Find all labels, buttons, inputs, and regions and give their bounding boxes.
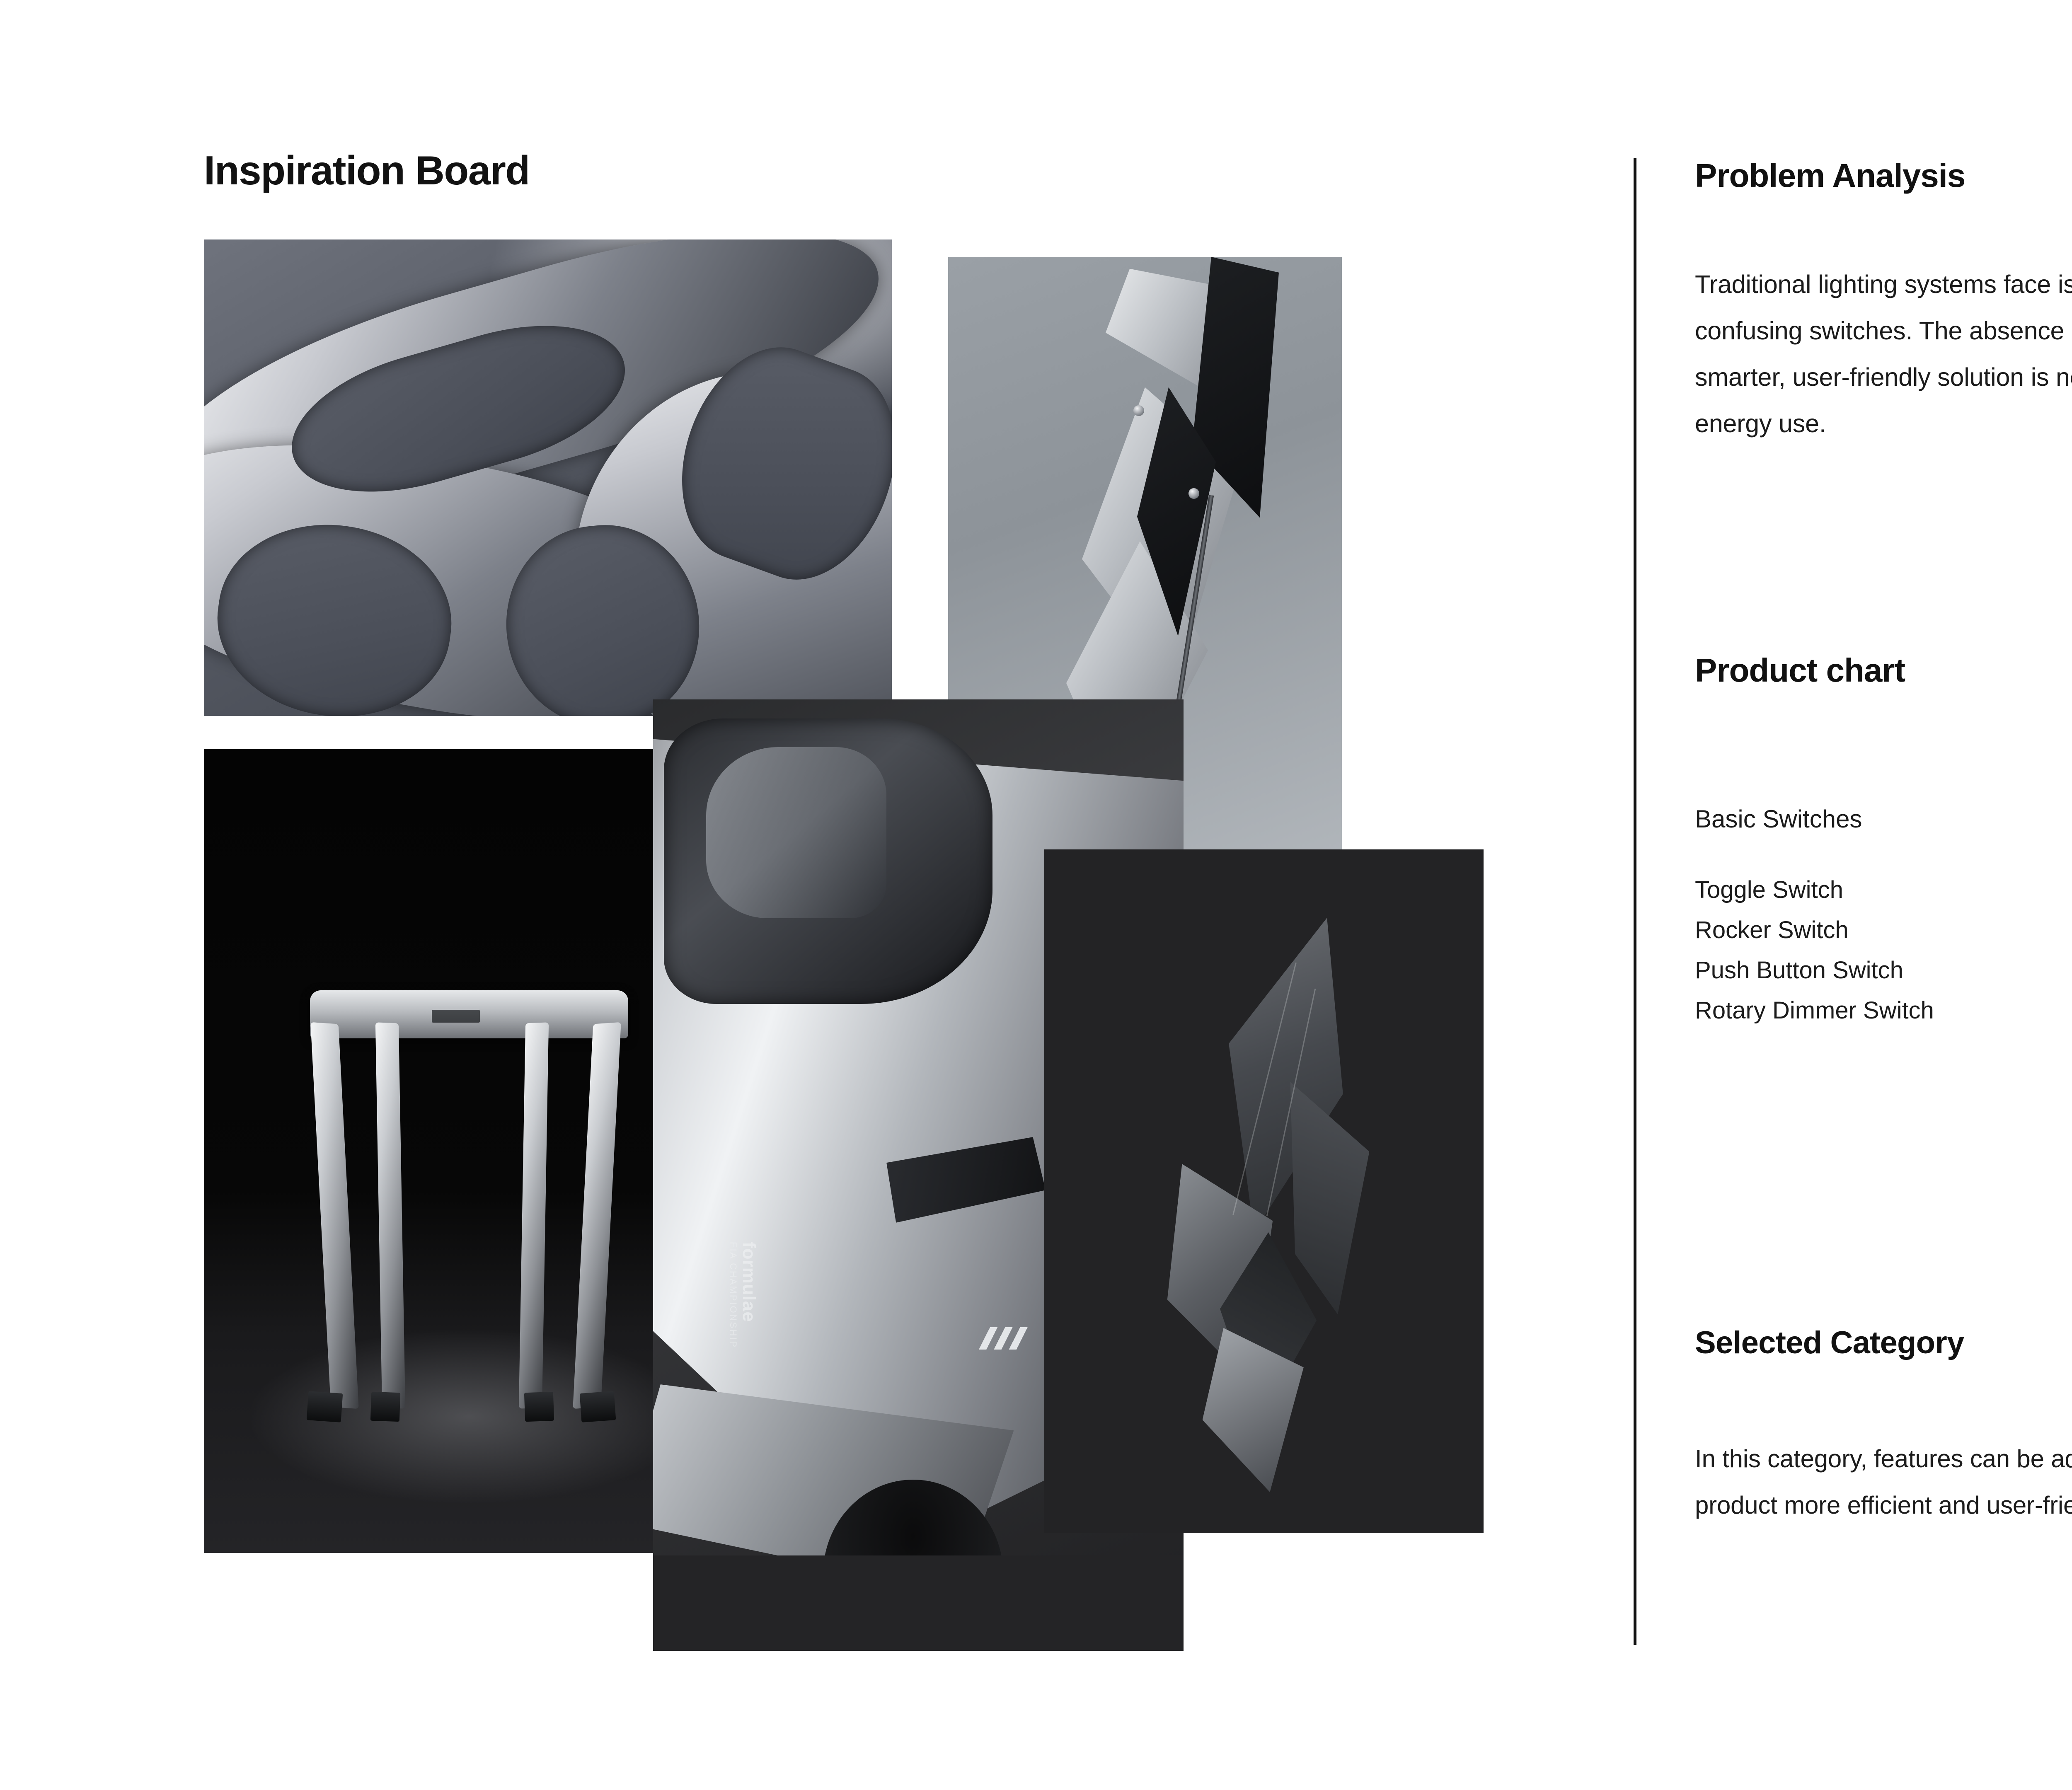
list-item: Push Button Switch — [1695, 950, 2072, 990]
chart-column-basic[interactable]: Basic Switches Toggle Switch Rocker Swit… — [1695, 789, 2072, 1030]
inspiration-board-panel: Inspiration Board — [0, 0, 1634, 1790]
product-chart-grid: Basic Switches Toggle Switch Rocker Swit… — [1695, 789, 2072, 1229]
car-livery-wordmark: formulaeFIA CHAMPIONSHIP — [728, 1242, 759, 1348]
list-item: Toggle Switch — [1695, 870, 2072, 910]
chart-column-items: Toggle Switch Rocker Switch Push Button … — [1695, 870, 2072, 1030]
organic-frame-render-image — [204, 239, 892, 716]
car-livery-logo-icon — [978, 1327, 1036, 1350]
vertical-divider — [1634, 158, 1636, 1645]
problem-analysis-panel: Problem Analysis Traditional lighting sy… — [1695, 0, 2072, 1790]
list-item: Rotary Dimmer Switch — [1695, 990, 2072, 1030]
list-item: Rocker Switch — [1695, 910, 2072, 950]
origami-sculpture-image — [1044, 849, 1484, 1533]
selected-category-label: Selected Category — [1695, 1325, 1964, 1361]
image-collage: formulaeFIA CHAMPIONSHIP — [0, 0, 1634, 1790]
chart-column-header: Basic Switches — [1695, 789, 2072, 832]
selected-category-body: In this category, features can be added … — [1695, 1436, 2072, 1529]
problem-analysis-heading: Problem Analysis — [1695, 157, 1965, 195]
slide-canvas: Inspiration Board — [0, 0, 2072, 1790]
problem-analysis-body: Traditional lighting systems face issues… — [1695, 261, 2072, 447]
product-chart-heading: Product chart — [1695, 651, 1905, 689]
